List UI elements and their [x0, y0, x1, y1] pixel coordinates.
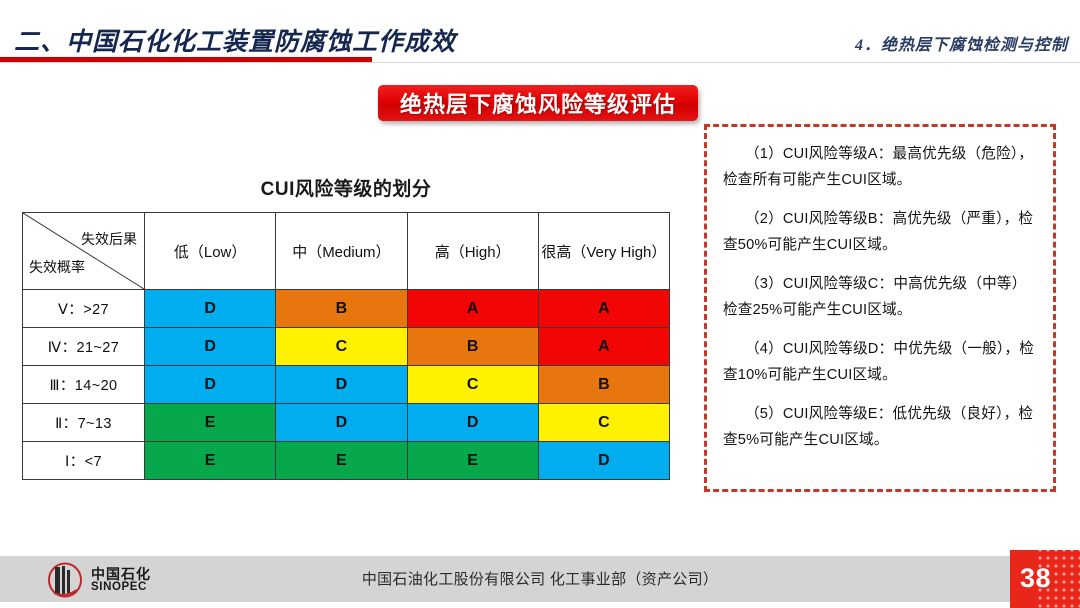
page-number-badge: 38	[1010, 550, 1080, 608]
matrix-cell-r1-c2: B	[407, 328, 538, 366]
risk-grade-note-5: （5）CUI风险等级E：低优先级（良好），检查5%可能产生CUI区域。	[723, 401, 1037, 453]
matrix-row: Ⅳ：21~27DCBA	[23, 328, 670, 366]
matrix-cell-r1-c3: A	[538, 328, 669, 366]
matrix-cell-r2-c0: D	[145, 366, 276, 404]
matrix-cell-r1-c0: D	[145, 328, 276, 366]
section-subtitle: 4．绝热层下腐蚀检测与控制	[855, 31, 1068, 55]
matrix-cell-r0-c0: D	[145, 290, 276, 328]
matrix-cell-r2-c1: D	[276, 366, 407, 404]
matrix-row: Ⅲ：14~20DDCB	[23, 366, 670, 404]
matrix-cell-r0-c1: B	[276, 290, 407, 328]
matrix-header-row: 失效后果失效概率低（Low）中（Medium）高（High）很高（Very Hi…	[23, 213, 670, 290]
matrix-cell-r3-c2: D	[407, 404, 538, 442]
matrix-row-label-3: Ⅱ：7~13	[23, 404, 145, 442]
matrix-row-label-1: Ⅳ：21~27	[23, 328, 145, 366]
matrix-cell-r4-c3: D	[538, 442, 669, 480]
matrix-column-header-1: 中（Medium）	[276, 213, 407, 290]
matrix-cell-r3-c0: E	[145, 404, 276, 442]
matrix-cell-r4-c1: E	[276, 442, 407, 480]
matrix-cell-r3-c1: D	[276, 404, 407, 442]
slide-header: 二、中国石化化工装置防腐蚀工作成效 4．绝热层下腐蚀检测与控制	[0, 0, 1080, 62]
matrix-corner-cell: 失效后果失效概率	[23, 213, 145, 290]
matrix-row-label-2: Ⅲ：14~20	[23, 366, 145, 404]
matrix-cell-r0-c2: A	[407, 290, 538, 328]
matrix-row: Ⅰ：<7EEED	[23, 442, 670, 480]
matrix-row: Ⅴ：>27DBAA	[23, 290, 670, 328]
page-number: 38	[1020, 563, 1051, 594]
matrix-cell-r4-c2: E	[407, 442, 538, 480]
matrix-cell-r0-c3: A	[538, 290, 669, 328]
matrix-cell-r1-c1: C	[276, 328, 407, 366]
matrix-row: Ⅱ：7~13EDDC	[23, 404, 670, 442]
matrix-column-header-0: 低（Low）	[145, 213, 276, 290]
matrix-cell-r2-c3: B	[538, 366, 669, 404]
matrix-cell-r3-c3: C	[538, 404, 669, 442]
risk-matrix-table: 失效后果失效概率低（Low）中（Medium）高（High）很高（Very Hi…	[22, 212, 670, 480]
risk-grade-notes-panel: （1）CUI风险等级A：最高优先级（危险），检查所有可能产生CUI区域。（2）C…	[704, 124, 1056, 492]
matrix-column-header-3: 很高（Very High）	[538, 213, 669, 290]
matrix-cell-r2-c2: C	[407, 366, 538, 404]
footer-company-text: 中国石油化工股份有限公司 化工事业部（资产公司）	[0, 568, 1080, 589]
section-banner: 绝热层下腐蚀风险等级评估	[378, 85, 698, 121]
risk-matrix-container: 失效后果失效概率低（Low）中（Medium）高（High）很高（Very Hi…	[22, 212, 670, 480]
risk-grade-note-2: （2）CUI风险等级B：高优先级（严重），检查50%可能产生CUI区域。	[723, 206, 1037, 258]
risk-grade-note-1: （1）CUI风险等级A：最高优先级（危险），检查所有可能产生CUI区域。	[723, 141, 1037, 193]
matrix-corner-consequence-label: 失效后果	[81, 229, 137, 249]
page-title: 二、中国石化化工装置防腐蚀工作成效	[14, 22, 456, 58]
risk-grade-note-3: （3）CUI风险等级C：中高优先级（中等）检查25%可能产生CUI区域。	[723, 271, 1037, 323]
matrix-corner-probability-label: 失效概率	[29, 257, 85, 277]
matrix-title: CUI风险等级的划分	[22, 174, 670, 201]
matrix-row-label-4: Ⅰ：<7	[23, 442, 145, 480]
risk-grade-note-4: （4）CUI风险等级D：中优先级（一般），检查10%可能产生CUI区域。	[723, 336, 1037, 388]
matrix-column-header-2: 高（High）	[407, 213, 538, 290]
header-divider	[0, 62, 1080, 63]
section-banner-label: 绝热层下腐蚀风险等级评估	[400, 87, 676, 119]
slide-footer: 中国石化 SINOPEC 中国石油化工股份有限公司 化工事业部（资产公司） 38	[0, 550, 1080, 608]
matrix-row-label-0: Ⅴ：>27	[23, 290, 145, 328]
matrix-cell-r4-c0: E	[145, 442, 276, 480]
